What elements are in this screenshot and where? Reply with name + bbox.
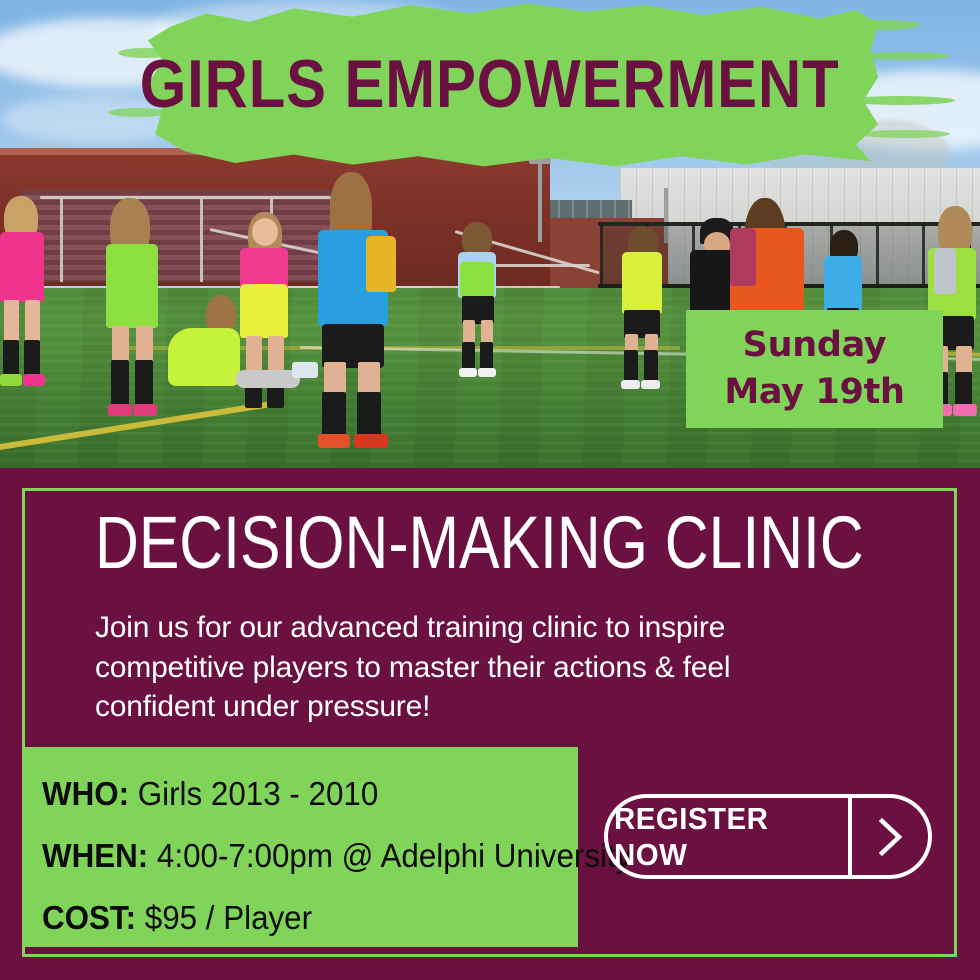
register-now-label: REGISTER NOW [614,798,842,875]
info-panel: DECISION-MAKING CLINIC Join us for our a… [0,468,980,980]
detail-value-who: Girls 2013 - 2010 [129,775,378,812]
detail-label-when: WHEN: [42,837,148,874]
flyer-title: GIRLS EMPOWERMENT [140,50,840,118]
detail-value-when: 4:00-7:00pm @ Adelphi University [148,837,631,874]
detail-label-cost: COST: [42,899,136,936]
detail-value-cost: $95 / Player [136,899,312,936]
title-banner: GIRLS EMPOWERMENT [0,0,980,168]
date-badge: Sunday May 19th [686,310,943,428]
railing [40,196,330,199]
date-badge-date: May 19th [724,369,904,416]
fence-post [200,196,203,282]
detail-row-who: WHO: Girls 2013 - 2010 [42,775,551,813]
detail-label-who: WHO: [42,775,129,812]
light-pole [538,162,542,242]
clinic-headline: DECISION-MAKING CLINIC [95,506,864,580]
bleachers [20,190,350,282]
details-box: WHO: Girls 2013 - 2010 WHEN: 4:00-7:00pm… [24,747,578,947]
chevron-right-icon [852,798,928,875]
detail-row-when: WHEN: 4:00-7:00pm @ Adelphi University [42,837,551,875]
flyer-root: GIRLS EMPOWERMENT Sunday May 19th DECISI… [0,0,980,980]
hero-photo: GIRLS EMPOWERMENT Sunday May 19th [0,0,980,468]
clinic-description: Join us for our advanced training clinic… [95,608,855,727]
fence-post [60,196,63,282]
detail-row-cost: COST: $95 / Player [42,899,551,937]
register-now-button[interactable]: REGISTER NOW [604,794,932,879]
date-badge-day: Sunday [743,322,887,369]
